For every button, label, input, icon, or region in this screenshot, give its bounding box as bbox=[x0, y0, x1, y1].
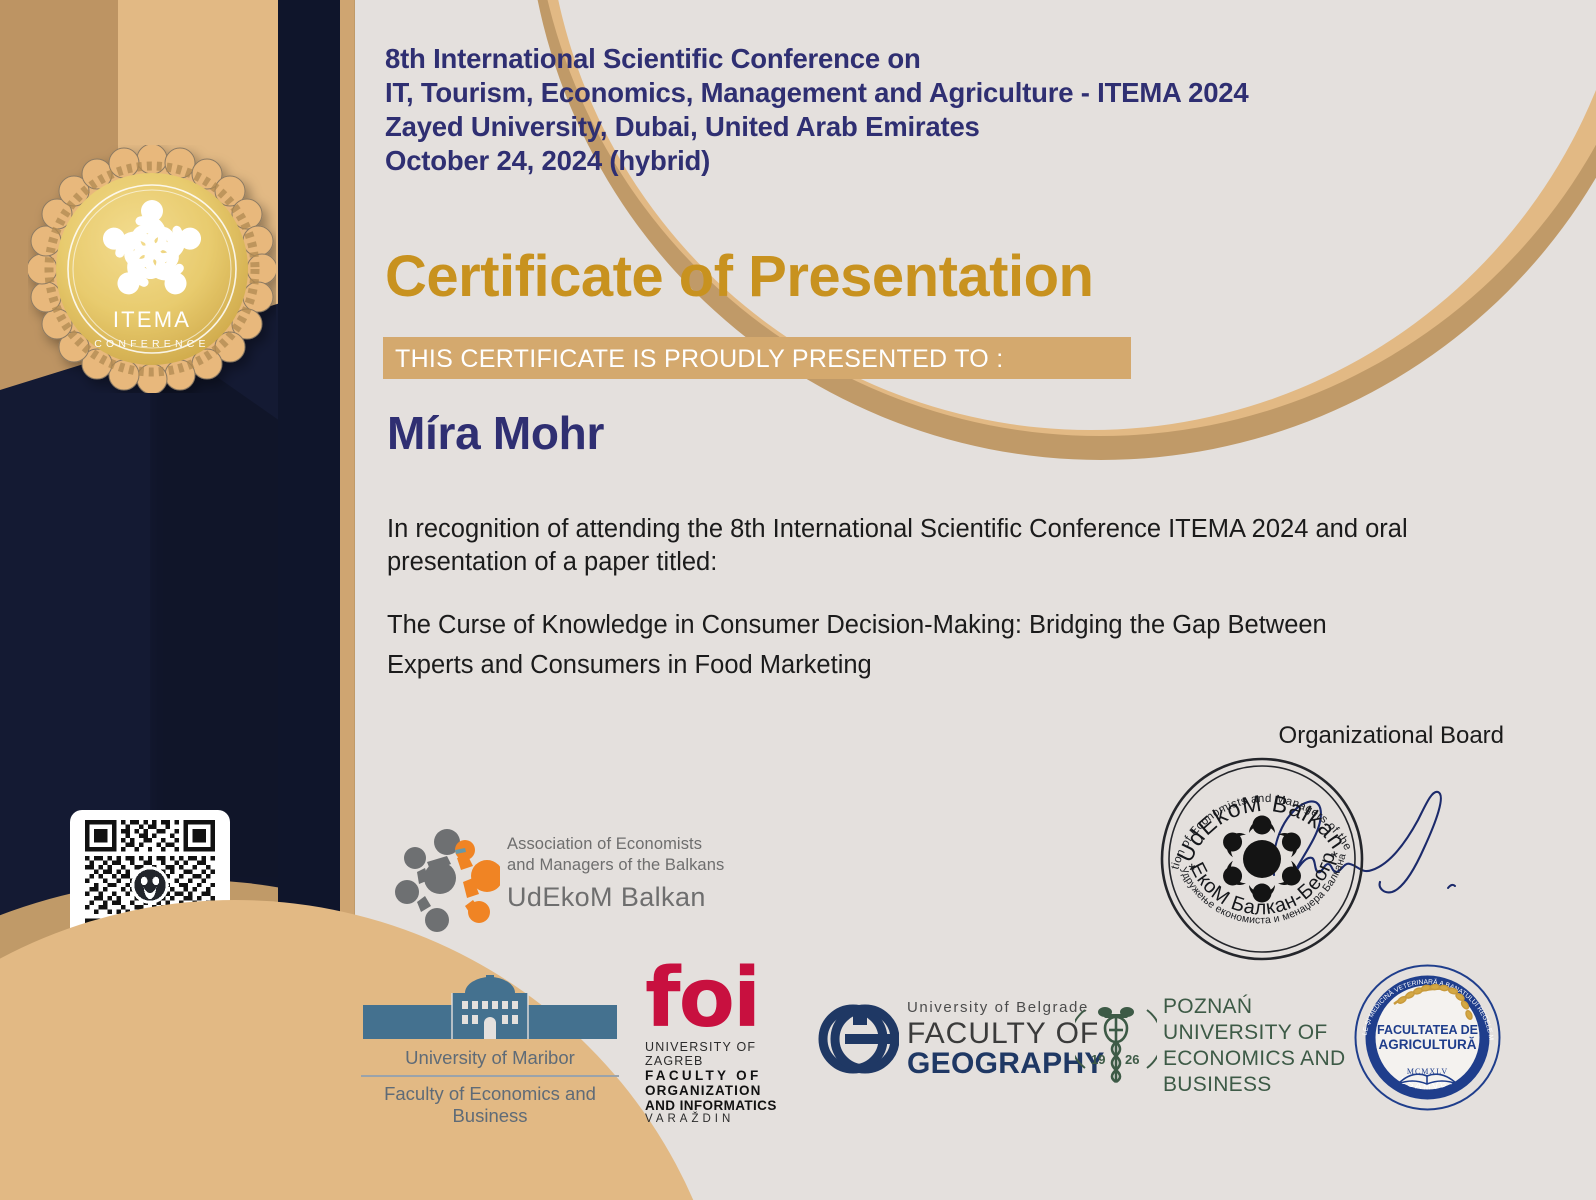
maribor-divider bbox=[361, 1075, 619, 1077]
geography-line-1: University of Belgrade bbox=[907, 999, 1089, 1016]
recipient-name: Míra Mohr bbox=[387, 406, 604, 460]
maribor-name: University of Maribor bbox=[355, 1047, 625, 1069]
svg-text:19: 19 bbox=[1091, 1052, 1105, 1067]
seal-title: ITEMA bbox=[113, 307, 191, 332]
certificate-content-panel: 8th International Scientific Conference … bbox=[355, 0, 1596, 1200]
header-line-1: 8th International Scientific Conference … bbox=[385, 42, 1315, 76]
faculty-of-agriculture-logo: UNIVERSITATEA DE ȘTIINȚE AGRICOLE ȘI MED… bbox=[1350, 960, 1505, 1115]
foi-line-4: AND INFORMATICS bbox=[645, 1098, 790, 1113]
geography-line-2: FACULTY OF bbox=[907, 1017, 1099, 1051]
foi-line-5: VARAŽDIN bbox=[645, 1113, 790, 1125]
faculty-of-geography-logo: University of Belgrade FACULTY OF GEOGRA… bbox=[815, 995, 1105, 1085]
organization-stamp: Association of Economists and Managers o… bbox=[1155, 752, 1370, 967]
university-of-maribor-logo: University of Maribor Faculty of Economi… bbox=[355, 975, 625, 1110]
udekom-subtitle-line1: Association of Economists bbox=[507, 834, 724, 855]
udekom-subtitle: Association of Economists and Managers o… bbox=[507, 834, 724, 876]
svg-text:26: 26 bbox=[1125, 1052, 1139, 1067]
itema-seal: ITEMA CONFERENCE bbox=[28, 145, 276, 393]
conference-header: 8th International Scientific Conference … bbox=[385, 42, 1315, 178]
header-line-4: October 24, 2024 (hybrid) bbox=[385, 144, 1315, 178]
udekom-subtitle-line2: and Managers of the Balkans bbox=[507, 855, 724, 876]
foi-zagreb-logo: foi UNIVERSITY OF ZAGREB FACULTY OF ORGA… bbox=[645, 962, 790, 1137]
certificate-canvas: ITEMA CONFERENCE bbox=[0, 0, 1596, 1200]
poznan-name: POZNAŃ UNIVERSITY OF ECONOMICS AND BUSIN… bbox=[1163, 994, 1365, 1098]
certificate-title: Certificate of Presentation bbox=[385, 246, 1093, 308]
signatory-label: Organizational Board bbox=[1279, 722, 1504, 750]
header-line-3: Zayed University, Dubai, United Arab Emi… bbox=[385, 110, 1315, 144]
poznan-university-logo: 19 26 POZNAŃ UNIVERSITY OF ECONOMICS AND… bbox=[1075, 990, 1365, 1090]
recognition-text: In recognition of attending the 8th Inte… bbox=[387, 513, 1477, 579]
foi-wordmark: foi bbox=[645, 962, 790, 1036]
svg-text:*: * bbox=[1330, 847, 1339, 868]
maribor-faculty: Faculty of Economics and Business bbox=[355, 1083, 625, 1127]
presented-to-label: THIS CERTIFICATE IS PROUDLY PRESENTED TO… bbox=[395, 345, 1004, 374]
udekom-balkan-logo: Association of Economists and Managers o… bbox=[395, 820, 725, 935]
agriculture-line-1: FACULTATEA DE bbox=[1377, 1023, 1478, 1037]
presented-to-banner: THIS CERTIFICATE IS PROUDLY PRESENTED TO… bbox=[383, 337, 1131, 379]
seal-subtitle: CONFERENCE bbox=[94, 338, 210, 350]
agriculture-line-2: AGRICULTURĂ bbox=[1379, 1037, 1477, 1052]
foi-line-3: ORGANIZATION bbox=[645, 1083, 790, 1098]
header-line-2: IT, Tourism, Economics, Management and A… bbox=[385, 76, 1315, 110]
foi-line-2: FACULTY OF bbox=[645, 1068, 790, 1083]
agriculture-book-year: MCMXLV bbox=[1407, 1067, 1448, 1076]
udekom-name: UdEkoM Balkan bbox=[507, 882, 706, 913]
paper-title: The Curse of Knowledge in Consumer Decis… bbox=[387, 605, 1417, 685]
foi-line-1: UNIVERSITY OF ZAGREB bbox=[645, 1040, 790, 1068]
